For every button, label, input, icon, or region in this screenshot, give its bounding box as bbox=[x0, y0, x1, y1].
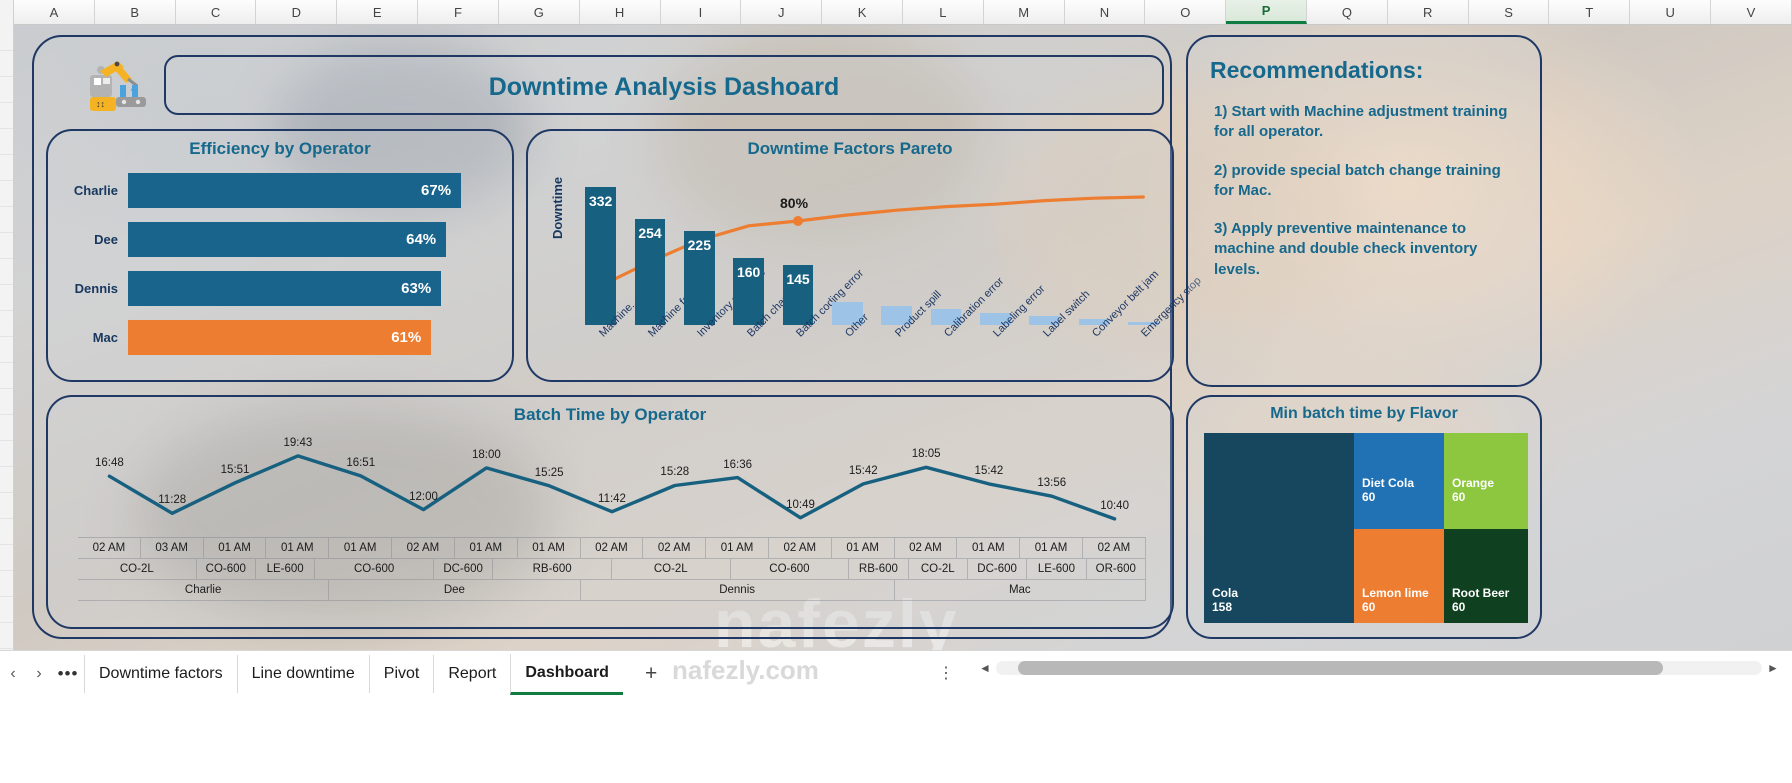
column-header-T[interactable]: T bbox=[1549, 0, 1630, 24]
chevron-left-icon[interactable]: ‹ bbox=[0, 665, 26, 683]
bottom-strip bbox=[0, 697, 1792, 783]
efficiency-bar-track: 63% bbox=[128, 271, 508, 306]
table-cell-product: LE-600 bbox=[256, 559, 315, 580]
batch-point-label: 13:56 bbox=[1037, 477, 1066, 489]
row-header[interactable] bbox=[0, 441, 13, 467]
efficiency-bar-track: 64% bbox=[128, 222, 508, 257]
sheet-tab-dashboard[interactable]: Dashboard bbox=[510, 654, 623, 695]
sheet-tab-line-downtime[interactable]: Line downtime bbox=[237, 655, 369, 693]
table-cell-product: LE-600 bbox=[1027, 559, 1086, 580]
scroll-right-icon[interactable]: ► bbox=[1762, 661, 1784, 675]
efficiency-bar: 64% bbox=[128, 222, 446, 257]
batch-point-label: 11:42 bbox=[598, 493, 626, 505]
page-title: Downtime Analysis Dashoard bbox=[166, 57, 1162, 117]
recommendation-item: 1) Start with Machine adjustment trainin… bbox=[1214, 102, 1516, 143]
column-header-M[interactable]: M bbox=[984, 0, 1065, 24]
pareto-bar: 254 bbox=[635, 219, 666, 325]
efficiency-bar: 67% bbox=[128, 173, 461, 208]
row-header[interactable] bbox=[0, 51, 13, 77]
batch-point-label: 15:42 bbox=[975, 465, 1004, 477]
column-header-K[interactable]: K bbox=[822, 0, 903, 24]
downtime-factors-pareto-panel: Downtime Factors Pareto Downtime 80% 332… bbox=[526, 129, 1174, 382]
treemap-title: Min batch time by Flavor bbox=[1188, 405, 1540, 423]
scroll-left-icon[interactable]: ◄ bbox=[974, 661, 996, 675]
batch-chart-title: Batch Time by Operator bbox=[48, 405, 1172, 425]
row-header[interactable] bbox=[0, 155, 13, 181]
row-header[interactable] bbox=[0, 103, 13, 129]
batch-point-label: 16:36 bbox=[723, 459, 752, 471]
batch-point-label: 15:51 bbox=[221, 464, 250, 476]
table-cell-operator: Charlie bbox=[78, 580, 329, 601]
column-header-N[interactable]: N bbox=[1065, 0, 1146, 24]
pareto-plot-area: 332Machine...254Machine failure225Invent… bbox=[576, 175, 1168, 325]
treemap-cell-label: Diet Cola bbox=[1362, 477, 1414, 491]
batch-point-label: 19:43 bbox=[283, 437, 312, 449]
efficiency-bar-row: Dennis63% bbox=[56, 271, 508, 306]
row-header[interactable] bbox=[0, 181, 13, 207]
table-cell-hour: 01 AM bbox=[204, 538, 267, 559]
robot-arm-icon: ↕↕ bbox=[80, 59, 164, 117]
treemap-cell[interactable]: Diet Cola60 bbox=[1354, 433, 1444, 529]
treemap-cell-value: 60 bbox=[1452, 491, 1494, 505]
efficiency-operator-label: Dennis bbox=[56, 281, 128, 296]
efficiency-bar-track: 61% bbox=[128, 320, 508, 355]
batch-point-label: 16:51 bbox=[346, 457, 375, 469]
table-cell-product: RB-600 bbox=[849, 559, 908, 580]
column-header-J[interactable]: J bbox=[741, 0, 822, 24]
ellipsis-icon[interactable]: ••• bbox=[52, 664, 84, 684]
row-header[interactable] bbox=[0, 545, 13, 571]
treemap-cell-value: 60 bbox=[1452, 601, 1509, 615]
scrollbar-track[interactable] bbox=[996, 661, 1762, 675]
table-cell-operator: Dennis bbox=[581, 580, 895, 601]
table-row: 02 AM03 AM01 AM01 AM01 AM02 AM01 AM01 AM… bbox=[78, 538, 1146, 559]
column-header-C[interactable]: C bbox=[176, 0, 257, 24]
treemap-chart: Cola158Diet Cola60Orange60Lemon lime60Ro… bbox=[1204, 433, 1528, 623]
batch-point-label: 16:48 bbox=[95, 457, 124, 469]
pareto-chart-title: Downtime Factors Pareto bbox=[528, 139, 1172, 159]
pareto-bar-label: 160 bbox=[733, 264, 764, 280]
table-cell-operator: Dee bbox=[329, 580, 580, 601]
efficiency-operator-label: Charlie bbox=[56, 183, 128, 198]
column-header-A[interactable]: A bbox=[14, 0, 95, 24]
table-cell-hour: 02 AM bbox=[392, 538, 455, 559]
table-cell-product: DC-600 bbox=[434, 559, 493, 580]
sheet-tab-report[interactable]: Report bbox=[433, 655, 510, 693]
batch-point-label: 18:05 bbox=[912, 448, 941, 460]
plus-icon[interactable]: + bbox=[623, 662, 679, 686]
row-header[interactable] bbox=[0, 571, 13, 597]
column-header-P[interactable]: P bbox=[1226, 0, 1307, 24]
tabbar-watermark: nafezly.com bbox=[672, 655, 819, 686]
pareto-category-label: Labeling error bbox=[991, 283, 1047, 339]
efficiency-bar-row: Charlie67% bbox=[56, 173, 508, 208]
row-header[interactable] bbox=[0, 493, 13, 519]
efficiency-bar-track: 67% bbox=[128, 173, 508, 208]
table-cell-product: DC-600 bbox=[968, 559, 1027, 580]
efficiency-bar: 63% bbox=[128, 271, 441, 306]
row-header[interactable] bbox=[0, 233, 13, 259]
batch-point-label: 10:49 bbox=[786, 499, 815, 511]
treemap-cell[interactable]: Lemon lime60 bbox=[1354, 529, 1444, 623]
table-cell-hour: 02 AM bbox=[1083, 538, 1146, 559]
row-header[interactable] bbox=[0, 415, 13, 441]
recommendations-title: Recommendations: bbox=[1210, 57, 1540, 84]
treemap-cell-label: Root Beer bbox=[1452, 587, 1509, 601]
batch-point-label: 18:00 bbox=[472, 449, 501, 461]
batch-time-by-operator-panel: Batch Time by Operator 16:4811:2815:5119… bbox=[46, 395, 1174, 629]
table-cell-hour: 01 AM bbox=[832, 538, 895, 559]
row-header[interactable] bbox=[0, 363, 13, 389]
column-header-B[interactable]: B bbox=[95, 0, 176, 24]
dashboard-title-box: Downtime Analysis Dashoard bbox=[164, 55, 1164, 115]
table-cell-product: RB-600 bbox=[493, 559, 612, 580]
table-cell-hour: 01 AM bbox=[706, 538, 769, 559]
table-cell-product: CO-2L bbox=[78, 559, 197, 580]
pareto-bar: 225 bbox=[684, 231, 715, 325]
treemap-cell-value: 158 bbox=[1212, 601, 1238, 615]
row-header[interactable] bbox=[0, 77, 13, 103]
treemap-cell-label: Lemon lime bbox=[1362, 587, 1429, 601]
dashboard-canvas: nafezly ↕↕ Downtime Analysis Dashoard Ef… bbox=[14, 25, 1792, 650]
table-cell-hour: 01 AM bbox=[1020, 538, 1083, 559]
table-cell-operator: Mac bbox=[895, 580, 1146, 601]
batch-time-table: 02 AM03 AM01 AM01 AM01 AM02 AM01 AM01 AM… bbox=[78, 537, 1146, 613]
table-cell-product: CO-600 bbox=[731, 559, 850, 580]
efficiency-by-operator-panel: Efficiency by Operator Charlie67%Dee64%D… bbox=[46, 129, 514, 382]
column-letters: ABCDEFGHIJKLMNOPQRSTUV bbox=[14, 0, 1792, 24]
row-header[interactable] bbox=[0, 467, 13, 493]
column-header-H[interactable]: H bbox=[580, 0, 661, 24]
min-batch-time-by-flavor-panel: Min batch time by Flavor Cola158Diet Col… bbox=[1186, 395, 1542, 639]
column-header-O[interactable]: O bbox=[1145, 0, 1226, 24]
row-header[interactable] bbox=[0, 311, 13, 337]
sheet-tabs: Downtime factorsLine downtimePivotReport… bbox=[84, 654, 623, 695]
row-header[interactable] bbox=[0, 285, 13, 311]
efficiency-chart-title: Efficiency by Operator bbox=[48, 139, 512, 159]
efficiency-bar: 61% bbox=[128, 320, 431, 355]
pareto-bar-label: 225 bbox=[684, 237, 715, 253]
batch-point-label: 15:25 bbox=[535, 467, 564, 479]
batch-point-label: 15:42 bbox=[849, 465, 878, 477]
horizontal-scrollbar[interactable]: ◄ ► bbox=[974, 658, 1784, 678]
row-header[interactable] bbox=[0, 519, 13, 545]
table-cell-product: CO-2L bbox=[612, 559, 731, 580]
svg-text:↕↕: ↕↕ bbox=[96, 99, 105, 109]
treemap-cell-value: 60 bbox=[1362, 601, 1429, 615]
table-cell-hour: 02 AM bbox=[643, 538, 706, 559]
table-row: CO-2LCO-600LE-600CO-600DC-600RB-600CO-2L… bbox=[78, 559, 1146, 580]
column-header-E[interactable]: E bbox=[337, 0, 418, 24]
table-cell-hour: 01 AM bbox=[455, 538, 518, 559]
efficiency-bar-row: Dee64% bbox=[56, 222, 508, 257]
row-header[interactable] bbox=[0, 597, 13, 623]
recommendation-item: 3) Apply preventive maintenance to machi… bbox=[1214, 219, 1516, 280]
table-cell-hour: 01 AM bbox=[957, 538, 1020, 559]
recommendations-panel: Recommendations: 1) Start with Machine a… bbox=[1186, 35, 1542, 387]
column-header-S[interactable]: S bbox=[1469, 0, 1550, 24]
column-header-D[interactable]: D bbox=[256, 0, 337, 24]
sheet-tab-pivot[interactable]: Pivot bbox=[369, 655, 434, 693]
pareto-category-label: Label switch bbox=[1041, 288, 1092, 339]
table-cell-product: OR-600 bbox=[1087, 559, 1146, 580]
pareto-bar: 332 bbox=[585, 187, 616, 325]
recommendation-item: 2) provide special batch change training… bbox=[1214, 161, 1516, 202]
vertical-ellipsis-icon[interactable]: ⋮ bbox=[938, 663, 954, 683]
table-cell-product: CO-600 bbox=[315, 559, 434, 580]
row-header[interactable] bbox=[0, 129, 13, 155]
efficiency-operator-label: Dee bbox=[56, 232, 128, 247]
row-header[interactable] bbox=[0, 207, 13, 233]
spreadsheet-column-header: ABCDEFGHIJKLMNOPQRSTUV bbox=[0, 0, 1792, 25]
efficiency-operator-label: Mac bbox=[56, 330, 128, 345]
column-header-R[interactable]: R bbox=[1388, 0, 1469, 24]
chevron-right-icon[interactable]: › bbox=[26, 665, 52, 683]
column-header-Q[interactable]: Q bbox=[1307, 0, 1388, 24]
column-header-L[interactable]: L bbox=[903, 0, 984, 24]
table-cell-hour: 02 AM bbox=[78, 538, 141, 559]
row-header[interactable] bbox=[0, 25, 13, 51]
treemap-cell-label: Cola bbox=[1212, 587, 1238, 601]
table-cell-hour: 02 AM bbox=[769, 538, 832, 559]
pareto-y-axis-label: Downtime bbox=[550, 177, 565, 239]
table-cell-hour: 03 AM bbox=[141, 538, 204, 559]
pareto-bar-label: 254 bbox=[635, 225, 666, 241]
batch-point-label: 10:40 bbox=[1100, 500, 1129, 512]
column-header-U[interactable]: U bbox=[1630, 0, 1711, 24]
batch-line-path bbox=[78, 439, 1146, 531]
column-header-F[interactable]: F bbox=[418, 0, 499, 24]
spreadsheet-row-gutter bbox=[0, 25, 14, 650]
column-header-V[interactable]: V bbox=[1711, 0, 1792, 24]
table-cell-hour: 02 AM bbox=[895, 538, 958, 559]
treemap-cell-label: Orange bbox=[1452, 477, 1494, 491]
treemap-cell[interactable]: Orange60 bbox=[1444, 433, 1528, 529]
row-header[interactable] bbox=[0, 623, 13, 649]
column-header-G[interactable]: G bbox=[499, 0, 580, 24]
pareto-bar-label: 145 bbox=[783, 271, 814, 287]
table-cell-hour: 01 AM bbox=[329, 538, 392, 559]
table-cell-product: CO-600 bbox=[197, 559, 256, 580]
row-header[interactable] bbox=[0, 337, 13, 363]
column-header-I[interactable]: I bbox=[661, 0, 742, 24]
select-all-corner[interactable] bbox=[0, 0, 14, 25]
row-header[interactable] bbox=[0, 389, 13, 415]
efficiency-bar-row: Mac61% bbox=[56, 320, 508, 355]
treemap-cell[interactable]: Root Beer60 bbox=[1444, 529, 1528, 623]
sheet-tab-downtime-factors[interactable]: Downtime factors bbox=[84, 655, 237, 693]
table-cell-hour: 01 AM bbox=[518, 538, 581, 559]
table-cell-hour: 01 AM bbox=[266, 538, 329, 559]
batch-line-chart: 16:4811:2815:5119:4316:5112:0018:0015:25… bbox=[78, 439, 1146, 531]
batch-point-label: 11:28 bbox=[158, 494, 186, 506]
scrollbar-thumb[interactable] bbox=[1018, 661, 1663, 675]
treemap-cell-value: 60 bbox=[1362, 491, 1414, 505]
batch-point-label: 12:00 bbox=[409, 491, 438, 503]
table-cell-hour: 02 AM bbox=[581, 538, 644, 559]
table-row: CharlieDeeDennisMac bbox=[78, 580, 1146, 601]
treemap-cell[interactable]: Cola158 bbox=[1204, 433, 1354, 623]
pareto-bar-label: 332 bbox=[585, 193, 616, 209]
table-cell-product: CO-2L bbox=[909, 559, 968, 580]
row-header[interactable] bbox=[0, 259, 13, 285]
batch-point-label: 15:28 bbox=[660, 466, 689, 478]
